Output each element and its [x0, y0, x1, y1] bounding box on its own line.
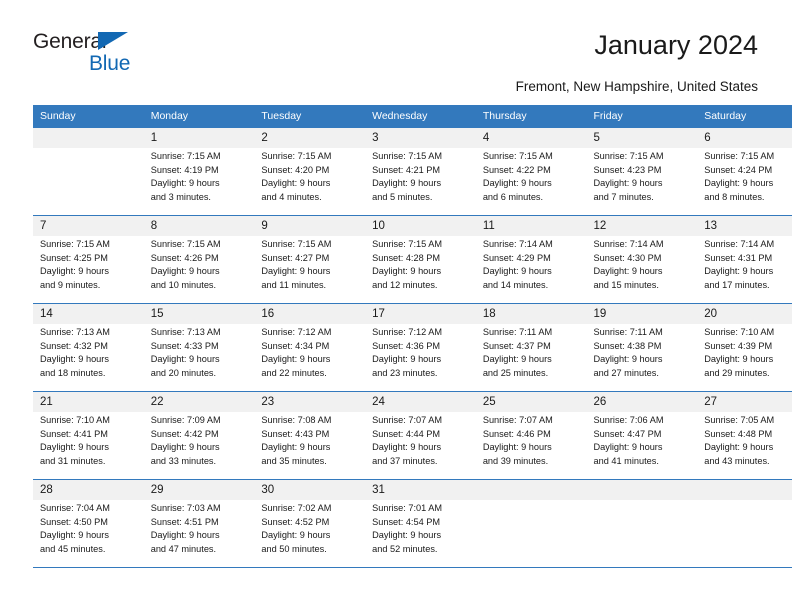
calendar-day-cell[interactable]: 15Sunrise: 7:13 AMSunset: 4:33 PMDayligh… [144, 304, 255, 392]
day-daylight2-text: and 18 minutes. [40, 367, 138, 381]
day-daylight1-text: Daylight: 9 hours [40, 529, 138, 543]
calendar-day-cell[interactable]: 1Sunrise: 7:15 AMSunset: 4:19 PMDaylight… [144, 128, 255, 216]
bottom-rule [33, 568, 792, 569]
calendar-day-cell[interactable]: 5Sunrise: 7:15 AMSunset: 4:23 PMDaylight… [587, 128, 698, 216]
weekday-header-thursday: Thursday [476, 105, 587, 128]
day-daylight2-text: and 35 minutes. [261, 455, 359, 469]
day-sunrise-text: Sunrise: 7:11 AM [594, 326, 692, 340]
calendar-day-cell[interactable]: 16Sunrise: 7:12 AMSunset: 4:34 PMDayligh… [254, 304, 365, 392]
day-sunrise-text: Sunrise: 7:15 AM [151, 238, 249, 252]
day-sun-info: Sunrise: 7:12 AMSunset: 4:36 PMDaylight:… [365, 324, 476, 380]
page-subtitle: Fremont, New Hampshire, United States [516, 79, 758, 95]
day-daylight2-text: and 45 minutes. [40, 543, 138, 557]
day-daylight1-text: Daylight: 9 hours [372, 353, 470, 367]
day-number: 15 [144, 304, 255, 324]
day-daylight2-text: and 31 minutes. [40, 455, 138, 469]
day-sun-info: Sunrise: 7:10 AMSunset: 4:41 PMDaylight:… [33, 412, 144, 468]
day-daylight1-text: Daylight: 9 hours [261, 529, 359, 543]
day-daylight1-text: Daylight: 9 hours [372, 441, 470, 455]
day-sun-info: Sunrise: 7:04 AMSunset: 4:50 PMDaylight:… [33, 500, 144, 556]
day-daylight1-text: Daylight: 9 hours [261, 353, 359, 367]
day-number: 19 [587, 304, 698, 324]
calendar-day-cell[interactable]: 20Sunrise: 7:10 AMSunset: 4:39 PMDayligh… [697, 304, 792, 392]
calendar-cell-empty [33, 128, 144, 216]
day-number: 18 [476, 304, 587, 324]
day-sunset-text: Sunset: 4:27 PM [261, 252, 359, 266]
day-daylight2-text: and 37 minutes. [372, 455, 470, 469]
day-sunrise-text: Sunrise: 7:13 AM [40, 326, 138, 340]
day-daylight1-text: Daylight: 9 hours [483, 353, 581, 367]
day-daylight1-text: Daylight: 9 hours [151, 353, 249, 367]
calendar-day-cell[interactable]: 11Sunrise: 7:14 AMSunset: 4:29 PMDayligh… [476, 216, 587, 304]
day-sunset-text: Sunset: 4:44 PM [372, 428, 470, 442]
day-daylight2-text: and 25 minutes. [483, 367, 581, 381]
day-sunrise-text: Sunrise: 7:14 AM [483, 238, 581, 252]
day-number: 23 [254, 392, 365, 412]
weekday-header-monday: Monday [144, 105, 255, 128]
day-sun-info: Sunrise: 7:15 AMSunset: 4:19 PMDaylight:… [144, 148, 255, 204]
day-sun-info: Sunrise: 7:15 AMSunset: 4:27 PMDaylight:… [254, 236, 365, 292]
calendar-day-cell[interactable]: 10Sunrise: 7:15 AMSunset: 4:28 PMDayligh… [365, 216, 476, 304]
day-daylight2-text: and 23 minutes. [372, 367, 470, 381]
triangle-icon [98, 32, 128, 50]
day-daylight1-text: Daylight: 9 hours [40, 441, 138, 455]
day-sunset-text: Sunset: 4:24 PM [704, 164, 792, 178]
day-number: 8 [144, 216, 255, 236]
day-daylight1-text: Daylight: 9 hours [704, 177, 792, 191]
logo-text-general: General [33, 30, 106, 54]
day-daylight1-text: Daylight: 9 hours [261, 265, 359, 279]
day-number: 11 [476, 216, 587, 236]
day-daylight2-text: and 17 minutes. [704, 279, 792, 293]
day-sun-info: Sunrise: 7:09 AMSunset: 4:42 PMDaylight:… [144, 412, 255, 468]
calendar-day-cell[interactable]: 9Sunrise: 7:15 AMSunset: 4:27 PMDaylight… [254, 216, 365, 304]
day-sun-info: Sunrise: 7:13 AMSunset: 4:33 PMDaylight:… [144, 324, 255, 380]
calendar-day-cell[interactable]: 26Sunrise: 7:06 AMSunset: 4:47 PMDayligh… [587, 392, 698, 480]
day-daylight2-text: and 52 minutes. [372, 543, 470, 557]
day-daylight1-text: Daylight: 9 hours [372, 265, 470, 279]
calendar-day-cell[interactable]: 6Sunrise: 7:15 AMSunset: 4:24 PMDaylight… [697, 128, 792, 216]
day-number: 9 [254, 216, 365, 236]
day-number [33, 128, 144, 148]
calendar-day-cell[interactable]: 29Sunrise: 7:03 AMSunset: 4:51 PMDayligh… [144, 480, 255, 568]
day-sun-info: Sunrise: 7:06 AMSunset: 4:47 PMDaylight:… [587, 412, 698, 468]
day-number: 14 [33, 304, 144, 324]
day-number: 4 [476, 128, 587, 148]
day-daylight1-text: Daylight: 9 hours [151, 529, 249, 543]
day-number: 29 [144, 480, 255, 500]
day-daylight1-text: Daylight: 9 hours [704, 353, 792, 367]
weekday-header-friday: Friday [587, 105, 698, 128]
day-daylight2-text: and 10 minutes. [151, 279, 249, 293]
day-sunrise-text: Sunrise: 7:12 AM [372, 326, 470, 340]
day-number: 21 [33, 392, 144, 412]
day-sunrise-text: Sunrise: 7:06 AM [594, 414, 692, 428]
day-sunset-text: Sunset: 4:43 PM [261, 428, 359, 442]
calendar-day-cell[interactable]: 17Sunrise: 7:12 AMSunset: 4:36 PMDayligh… [365, 304, 476, 392]
day-number: 17 [365, 304, 476, 324]
calendar-day-cell[interactable]: 31Sunrise: 7:01 AMSunset: 4:54 PMDayligh… [365, 480, 476, 568]
calendar-table: SundayMondayTuesdayWednesdayThursdayFrid… [33, 105, 792, 568]
calendar-day-cell[interactable]: 28Sunrise: 7:04 AMSunset: 4:50 PMDayligh… [33, 480, 144, 568]
day-number [587, 480, 698, 500]
day-sunrise-text: Sunrise: 7:14 AM [704, 238, 792, 252]
calendar-cell-empty [476, 480, 587, 568]
day-sunset-text: Sunset: 4:46 PM [483, 428, 581, 442]
day-sunrise-text: Sunrise: 7:10 AM [40, 414, 138, 428]
day-sunrise-text: Sunrise: 7:10 AM [704, 326, 792, 340]
day-daylight2-text: and 39 minutes. [483, 455, 581, 469]
page-title: January 2024 [594, 29, 758, 61]
day-sunrise-text: Sunrise: 7:11 AM [483, 326, 581, 340]
calendar-cell-empty [697, 480, 792, 568]
day-number: 7 [33, 216, 144, 236]
page-header: General Blue January 2024 Fremont, New H… [0, 0, 792, 100]
day-sun-info: Sunrise: 7:12 AMSunset: 4:34 PMDaylight:… [254, 324, 365, 380]
day-sun-info: Sunrise: 7:15 AMSunset: 4:20 PMDaylight:… [254, 148, 365, 204]
day-daylight2-text: and 12 minutes. [372, 279, 470, 293]
day-sunset-text: Sunset: 4:47 PM [594, 428, 692, 442]
day-sunset-text: Sunset: 4:29 PM [483, 252, 581, 266]
day-number: 6 [697, 128, 792, 148]
day-sunrise-text: Sunrise: 7:03 AM [151, 502, 249, 516]
day-sunset-text: Sunset: 4:39 PM [704, 340, 792, 354]
day-daylight2-text: and 29 minutes. [704, 367, 792, 381]
calendar-week-row: 28Sunrise: 7:04 AMSunset: 4:50 PMDayligh… [33, 480, 792, 568]
day-sunset-text: Sunset: 4:48 PM [704, 428, 792, 442]
day-sunrise-text: Sunrise: 7:15 AM [372, 150, 470, 164]
day-sun-info: Sunrise: 7:15 AMSunset: 4:28 PMDaylight:… [365, 236, 476, 292]
day-sunset-text: Sunset: 4:30 PM [594, 252, 692, 266]
day-number: 24 [365, 392, 476, 412]
day-number: 2 [254, 128, 365, 148]
day-sunset-text: Sunset: 4:33 PM [151, 340, 249, 354]
day-number: 13 [697, 216, 792, 236]
calendar-day-cell[interactable]: 19Sunrise: 7:11 AMSunset: 4:38 PMDayligh… [587, 304, 698, 392]
day-daylight2-text: and 6 minutes. [483, 191, 581, 205]
day-sunset-text: Sunset: 4:20 PM [261, 164, 359, 178]
calendar-header-row: SundayMondayTuesdayWednesdayThursdayFrid… [33, 105, 792, 128]
day-daylight1-text: Daylight: 9 hours [483, 265, 581, 279]
day-sun-info: Sunrise: 7:05 AMSunset: 4:48 PMDaylight:… [697, 412, 792, 468]
calendar-day-cell[interactable]: 3Sunrise: 7:15 AMSunset: 4:21 PMDaylight… [365, 128, 476, 216]
day-sunrise-text: Sunrise: 7:15 AM [483, 150, 581, 164]
day-sunset-text: Sunset: 4:52 PM [261, 516, 359, 530]
day-sunrise-text: Sunrise: 7:02 AM [261, 502, 359, 516]
day-sunrise-text: Sunrise: 7:13 AM [151, 326, 249, 340]
day-number: 5 [587, 128, 698, 148]
calendar-body: 1Sunrise: 7:15 AMSunset: 4:19 PMDaylight… [33, 128, 792, 568]
calendar-day-cell[interactable]: 25Sunrise: 7:07 AMSunset: 4:46 PMDayligh… [476, 392, 587, 480]
day-sun-info: Sunrise: 7:14 AMSunset: 4:29 PMDaylight:… [476, 236, 587, 292]
day-sunset-text: Sunset: 4:34 PM [261, 340, 359, 354]
calendar-day-cell[interactable]: 23Sunrise: 7:08 AMSunset: 4:43 PMDayligh… [254, 392, 365, 480]
day-sunset-text: Sunset: 4:25 PM [40, 252, 138, 266]
day-sunset-text: Sunset: 4:50 PM [40, 516, 138, 530]
day-sunrise-text: Sunrise: 7:07 AM [372, 414, 470, 428]
day-daylight2-text: and 50 minutes. [261, 543, 359, 557]
day-sunrise-text: Sunrise: 7:15 AM [151, 150, 249, 164]
day-daylight2-text: and 47 minutes. [151, 543, 249, 557]
day-number: 10 [365, 216, 476, 236]
day-daylight1-text: Daylight: 9 hours [372, 177, 470, 191]
calendar-day-cell[interactable]: 4Sunrise: 7:15 AMSunset: 4:22 PMDaylight… [476, 128, 587, 216]
day-sunrise-text: Sunrise: 7:04 AM [40, 502, 138, 516]
calendar-day-cell[interactable]: 24Sunrise: 7:07 AMSunset: 4:44 PMDayligh… [365, 392, 476, 480]
day-sun-info: Sunrise: 7:15 AMSunset: 4:23 PMDaylight:… [587, 148, 698, 204]
day-daylight1-text: Daylight: 9 hours [261, 441, 359, 455]
day-sunrise-text: Sunrise: 7:05 AM [704, 414, 792, 428]
day-sunset-text: Sunset: 4:23 PM [594, 164, 692, 178]
day-number [476, 480, 587, 500]
day-daylight1-text: Daylight: 9 hours [40, 265, 138, 279]
day-daylight1-text: Daylight: 9 hours [372, 529, 470, 543]
day-sun-info: Sunrise: 7:15 AMSunset: 4:22 PMDaylight:… [476, 148, 587, 204]
day-number: 31 [365, 480, 476, 500]
day-daylight1-text: Daylight: 9 hours [151, 265, 249, 279]
day-number: 20 [697, 304, 792, 324]
day-daylight1-text: Daylight: 9 hours [151, 177, 249, 191]
calendar-week-row: 1Sunrise: 7:15 AMSunset: 4:19 PMDaylight… [33, 128, 792, 216]
day-sunrise-text: Sunrise: 7:15 AM [40, 238, 138, 252]
day-daylight1-text: Daylight: 9 hours [594, 177, 692, 191]
day-sunset-text: Sunset: 4:38 PM [594, 340, 692, 354]
day-number: 16 [254, 304, 365, 324]
day-sunset-text: Sunset: 4:26 PM [151, 252, 249, 266]
weekday-header-sunday: Sunday [33, 105, 144, 128]
calendar-cell-empty [587, 480, 698, 568]
day-sunset-text: Sunset: 4:21 PM [372, 164, 470, 178]
day-sunrise-text: Sunrise: 7:14 AM [594, 238, 692, 252]
day-sunset-text: Sunset: 4:19 PM [151, 164, 249, 178]
day-sun-info: Sunrise: 7:15 AMSunset: 4:24 PMDaylight:… [697, 148, 792, 204]
day-daylight2-text: and 20 minutes. [151, 367, 249, 381]
day-daylight2-text: and 27 minutes. [594, 367, 692, 381]
day-daylight1-text: Daylight: 9 hours [594, 441, 692, 455]
day-daylight2-text: and 15 minutes. [594, 279, 692, 293]
day-sun-info: Sunrise: 7:15 AMSunset: 4:25 PMDaylight:… [33, 236, 144, 292]
day-sunrise-text: Sunrise: 7:09 AM [151, 414, 249, 428]
day-sunset-text: Sunset: 4:37 PM [483, 340, 581, 354]
weekday-header-tuesday: Tuesday [254, 105, 365, 128]
calendar-day-cell[interactable]: 14Sunrise: 7:13 AMSunset: 4:32 PMDayligh… [33, 304, 144, 392]
day-number: 26 [587, 392, 698, 412]
day-sun-info: Sunrise: 7:13 AMSunset: 4:32 PMDaylight:… [33, 324, 144, 380]
day-daylight2-text: and 33 minutes. [151, 455, 249, 469]
day-daylight1-text: Daylight: 9 hours [40, 353, 138, 367]
day-number: 27 [697, 392, 792, 412]
calendar-day-cell[interactable]: 30Sunrise: 7:02 AMSunset: 4:52 PMDayligh… [254, 480, 365, 568]
day-sunrise-text: Sunrise: 7:15 AM [372, 238, 470, 252]
calendar-week-row: 14Sunrise: 7:13 AMSunset: 4:32 PMDayligh… [33, 304, 792, 392]
calendar-day-cell[interactable]: 13Sunrise: 7:14 AMSunset: 4:31 PMDayligh… [697, 216, 792, 304]
day-daylight2-text: and 5 minutes. [372, 191, 470, 205]
day-number: 22 [144, 392, 255, 412]
calendar-day-cell[interactable]: 18Sunrise: 7:11 AMSunset: 4:37 PMDayligh… [476, 304, 587, 392]
calendar-week-row: 21Sunrise: 7:10 AMSunset: 4:41 PMDayligh… [33, 392, 792, 480]
calendar-day-cell[interactable]: 21Sunrise: 7:10 AMSunset: 4:41 PMDayligh… [33, 392, 144, 480]
day-sunrise-text: Sunrise: 7:15 AM [704, 150, 792, 164]
logo-text-blue: Blue [89, 52, 130, 76]
day-daylight1-text: Daylight: 9 hours [261, 177, 359, 191]
day-sunrise-text: Sunrise: 7:01 AM [372, 502, 470, 516]
day-daylight2-text: and 14 minutes. [483, 279, 581, 293]
calendar-day-cell[interactable]: 22Sunrise: 7:09 AMSunset: 4:42 PMDayligh… [144, 392, 255, 480]
calendar-day-cell[interactable]: 2Sunrise: 7:15 AMSunset: 4:20 PMDaylight… [254, 128, 365, 216]
day-daylight1-text: Daylight: 9 hours [594, 265, 692, 279]
day-daylight1-text: Daylight: 9 hours [704, 441, 792, 455]
day-sun-info: Sunrise: 7:14 AMSunset: 4:30 PMDaylight:… [587, 236, 698, 292]
day-number: 30 [254, 480, 365, 500]
day-sun-info: Sunrise: 7:07 AMSunset: 4:46 PMDaylight:… [476, 412, 587, 468]
day-sunrise-text: Sunrise: 7:15 AM [261, 150, 359, 164]
day-number: 12 [587, 216, 698, 236]
day-sun-info: Sunrise: 7:08 AMSunset: 4:43 PMDaylight:… [254, 412, 365, 468]
calendar-footer [33, 568, 792, 569]
day-daylight2-text: and 3 minutes. [151, 191, 249, 205]
day-sunrise-text: Sunrise: 7:08 AM [261, 414, 359, 428]
weekday-header-wednesday: Wednesday [365, 105, 476, 128]
calendar-day-cell[interactable]: 27Sunrise: 7:05 AMSunset: 4:48 PMDayligh… [697, 392, 792, 480]
day-sun-info: Sunrise: 7:02 AMSunset: 4:52 PMDaylight:… [254, 500, 365, 556]
calendar-day-cell[interactable]: 8Sunrise: 7:15 AMSunset: 4:26 PMDaylight… [144, 216, 255, 304]
day-sunset-text: Sunset: 4:22 PM [483, 164, 581, 178]
day-daylight2-text: and 41 minutes. [594, 455, 692, 469]
day-sunset-text: Sunset: 4:31 PM [704, 252, 792, 266]
day-sunset-text: Sunset: 4:51 PM [151, 516, 249, 530]
day-sunset-text: Sunset: 4:42 PM [151, 428, 249, 442]
day-daylight1-text: Daylight: 9 hours [483, 177, 581, 191]
calendar-day-cell[interactable]: 12Sunrise: 7:14 AMSunset: 4:30 PMDayligh… [587, 216, 698, 304]
day-sunrise-text: Sunrise: 7:12 AM [261, 326, 359, 340]
day-number: 1 [144, 128, 255, 148]
day-sun-info: Sunrise: 7:01 AMSunset: 4:54 PMDaylight:… [365, 500, 476, 556]
day-sunrise-text: Sunrise: 7:15 AM [261, 238, 359, 252]
general-blue-logo[interactable]: General Blue [33, 30, 163, 82]
day-daylight1-text: Daylight: 9 hours [704, 265, 792, 279]
day-daylight2-text: and 43 minutes. [704, 455, 792, 469]
day-sun-info: Sunrise: 7:07 AMSunset: 4:44 PMDaylight:… [365, 412, 476, 468]
day-daylight2-text: and 8 minutes. [704, 191, 792, 205]
day-daylight2-text: and 4 minutes. [261, 191, 359, 205]
day-sunset-text: Sunset: 4:28 PM [372, 252, 470, 266]
day-number: 28 [33, 480, 144, 500]
day-sun-info: Sunrise: 7:14 AMSunset: 4:31 PMDaylight:… [697, 236, 792, 292]
day-sun-info: Sunrise: 7:11 AMSunset: 4:38 PMDaylight:… [587, 324, 698, 380]
day-daylight2-text: and 22 minutes. [261, 367, 359, 381]
day-number: 3 [365, 128, 476, 148]
day-daylight2-text: and 11 minutes. [261, 279, 359, 293]
day-number [697, 480, 792, 500]
day-sunset-text: Sunset: 4:36 PM [372, 340, 470, 354]
day-daylight1-text: Daylight: 9 hours [594, 353, 692, 367]
day-sun-info: Sunrise: 7:15 AMSunset: 4:26 PMDaylight:… [144, 236, 255, 292]
weekday-header-row: SundayMondayTuesdayWednesdayThursdayFrid… [33, 105, 792, 128]
day-sunset-text: Sunset: 4:54 PM [372, 516, 470, 530]
day-sun-info: Sunrise: 7:15 AMSunset: 4:21 PMDaylight:… [365, 148, 476, 204]
day-sunset-text: Sunset: 4:32 PM [40, 340, 138, 354]
day-number: 25 [476, 392, 587, 412]
day-sunrise-text: Sunrise: 7:15 AM [594, 150, 692, 164]
day-sun-info: Sunrise: 7:03 AMSunset: 4:51 PMDaylight:… [144, 500, 255, 556]
day-sun-info: Sunrise: 7:10 AMSunset: 4:39 PMDaylight:… [697, 324, 792, 380]
day-sunset-text: Sunset: 4:41 PM [40, 428, 138, 442]
day-daylight1-text: Daylight: 9 hours [151, 441, 249, 455]
calendar-day-cell[interactable]: 7Sunrise: 7:15 AMSunset: 4:25 PMDaylight… [33, 216, 144, 304]
calendar-week-row: 7Sunrise: 7:15 AMSunset: 4:25 PMDaylight… [33, 216, 792, 304]
weekday-header-saturday: Saturday [697, 105, 792, 128]
day-daylight1-text: Daylight: 9 hours [483, 441, 581, 455]
calendar-page: General Blue January 2024 Fremont, New H… [0, 0, 792, 612]
day-sun-info: Sunrise: 7:11 AMSunset: 4:37 PMDaylight:… [476, 324, 587, 380]
day-daylight2-text: and 7 minutes. [594, 191, 692, 205]
day-sunrise-text: Sunrise: 7:07 AM [483, 414, 581, 428]
day-daylight2-text: and 9 minutes. [40, 279, 138, 293]
